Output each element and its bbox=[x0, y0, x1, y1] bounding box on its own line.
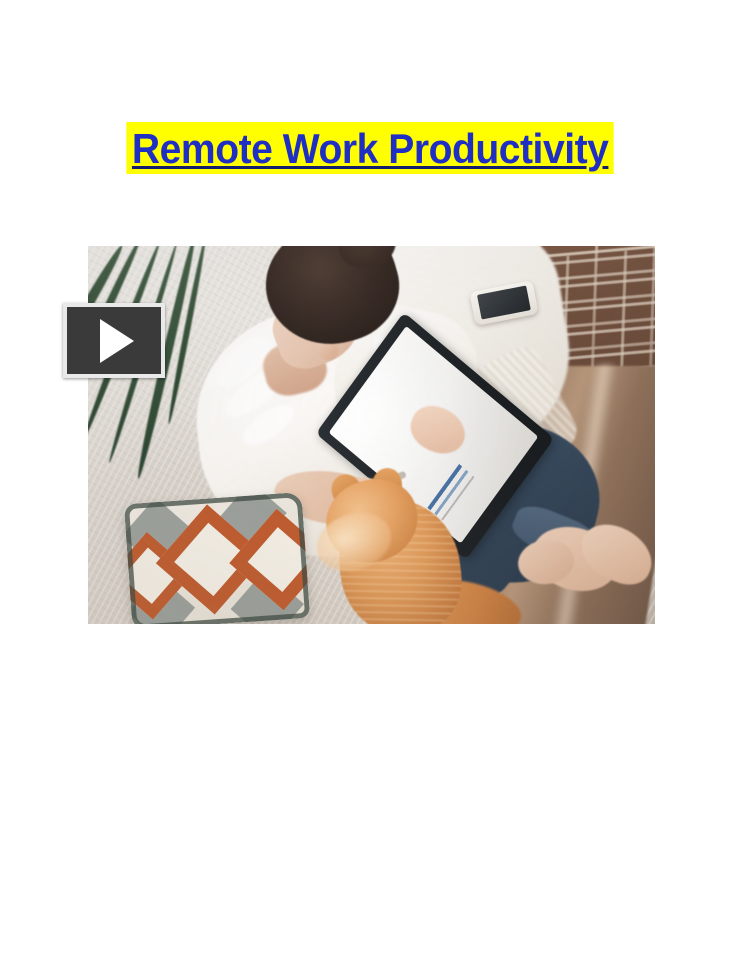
video-media-frame[interactable] bbox=[88, 246, 655, 624]
page-title-text: Remote Work Productivity bbox=[127, 122, 615, 174]
kilim-pillow bbox=[124, 492, 310, 624]
photo-image bbox=[88, 246, 655, 624]
smartphone-screen bbox=[477, 285, 531, 319]
slide-page: Remote Work Productivity bbox=[0, 0, 741, 960]
page-title: Remote Work Productivity bbox=[0, 122, 741, 174]
play-button[interactable] bbox=[63, 303, 165, 378]
play-triangle-icon bbox=[100, 319, 134, 363]
pillow-edge bbox=[124, 492, 310, 624]
